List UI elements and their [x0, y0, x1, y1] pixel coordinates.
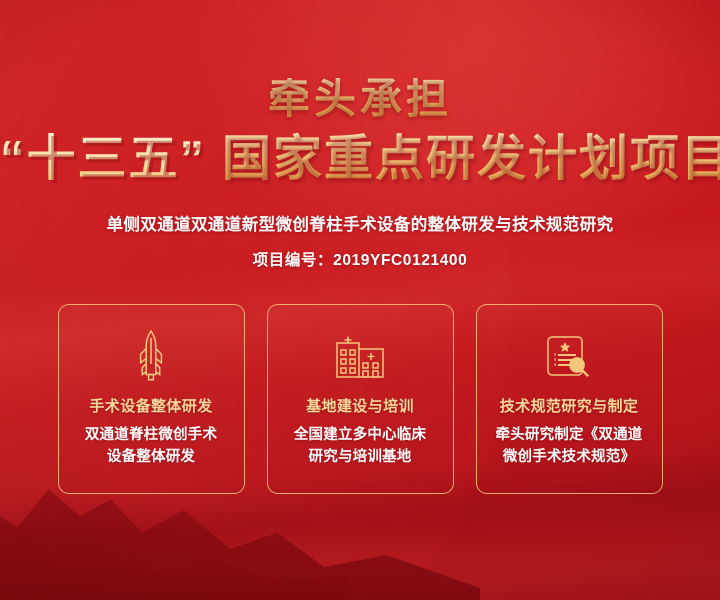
- feature-card-heading: 基地建设与培训: [306, 395, 414, 416]
- page-title-line1: 牵头承担: [0, 78, 720, 120]
- feature-card-body: 全国建立多中心临床 研究与培训基地: [294, 425, 426, 469]
- feature-card-body-line: 牵头研究制定《双通道: [496, 425, 643, 447]
- feature-card-body-line: 设备整体研发: [85, 447, 217, 469]
- title-block: 牵头承担 “十三五”国家重点研发计划项目: [0, 0, 720, 185]
- background-band-bottom: [0, 503, 720, 600]
- feature-card-list: 手术设备整体研发 双通道脊柱微创手术 设备整体研发 基地建设与培训: [0, 304, 720, 494]
- page-title-line2: “十三五”国家重点研发计划项目: [0, 134, 720, 185]
- project-subtitle: 单侧双通道双通道新型微创脊柱手术设备的整体研发与技术规范研究: [0, 211, 720, 235]
- page-title-quoted-term: “十三五”: [0, 132, 206, 186]
- feature-card-body: 牵头研究制定《双通道 微创手术技术规范》: [496, 425, 643, 469]
- feature-card-heading: 手术设备整体研发: [89, 395, 212, 416]
- hospital-building-icon: [333, 327, 387, 385]
- feature-card-body-line: 全国建立多中心临床: [294, 425, 426, 447]
- feature-card-heading: 技术规范研究与制定: [500, 395, 639, 416]
- project-number: 项目编号：2019YFC0121400: [0, 248, 720, 270]
- rocket-icon: [134, 327, 168, 385]
- feature-card-training-base: 基地建设与培训 全国建立多中心临床 研究与培训基地: [267, 304, 454, 494]
- feature-card-standards: 技术规范研究与制定 牵头研究制定《双通道 微创手术技术规范》: [476, 304, 663, 494]
- background-mountain-back: [0, 492, 350, 600]
- feature-card-body-line: 研究与培训基地: [294, 447, 426, 469]
- feature-card-body-line: 双通道脊柱微创手术: [85, 425, 217, 447]
- document-magnifier-icon: [544, 327, 594, 385]
- feature-card-body: 双通道脊柱微创手术 设备整体研发: [85, 425, 217, 469]
- feature-card-body-line: 微创手术技术规范》: [496, 447, 643, 469]
- feature-card-equipment: 手术设备整体研发 双通道脊柱微创手术 设备整体研发: [58, 304, 245, 494]
- poster-canvas: 牵头承担 “十三五”国家重点研发计划项目 单侧双通道双通道新型微创脊柱手术设备的…: [0, 0, 720, 600]
- page-title-program-name: 国家重点研发计划项目: [222, 132, 720, 186]
